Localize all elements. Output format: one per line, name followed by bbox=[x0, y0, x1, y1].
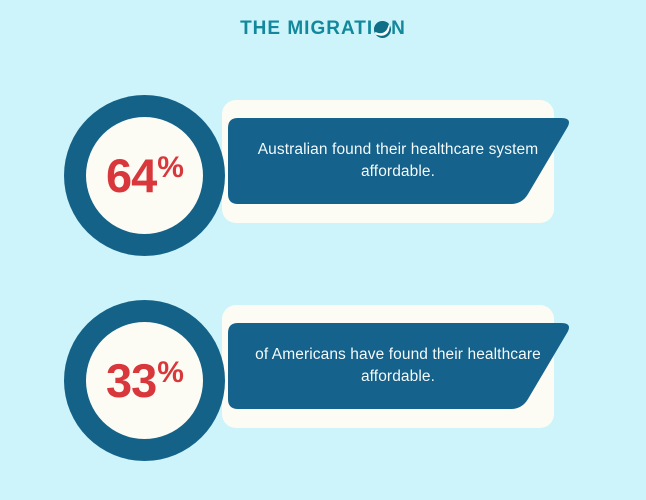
card-banner: Australian found their healthcare system… bbox=[228, 118, 573, 204]
percentage-circle-inner: 33 % bbox=[86, 322, 203, 439]
percentage-symbol: % bbox=[157, 358, 184, 388]
percentage-number: 33 bbox=[106, 357, 156, 404]
card-banner: of Americans have found their healthcare… bbox=[228, 323, 573, 409]
logo-swoosh-shape bbox=[374, 22, 389, 37]
percentage-circle: 33 % bbox=[64, 300, 225, 461]
brand-lockup: THE MIGRATI N bbox=[240, 19, 406, 38]
stat-card: of Americans have found their healthcare… bbox=[0, 295, 646, 455]
percentage-symbol: % bbox=[157, 153, 184, 183]
circle-leaf-logo-icon bbox=[374, 21, 391, 38]
percentage-value: 33 % bbox=[106, 357, 183, 404]
brand-title-after: N bbox=[391, 19, 406, 38]
percentage-number: 64 bbox=[106, 152, 156, 199]
percentage-value: 64 % bbox=[106, 152, 183, 199]
brand-title-before: THE MIGRATI bbox=[240, 19, 373, 38]
percentage-circle: 64 % bbox=[64, 95, 225, 256]
infographic-canvas: THE MIGRATI N Australian found their hea… bbox=[0, 0, 646, 500]
card-statement: of Americans have found their healthcare… bbox=[248, 323, 548, 409]
card-statement: Australian found their healthcare system… bbox=[248, 118, 548, 204]
stat-card: Australian found their healthcare system… bbox=[0, 90, 646, 250]
percentage-circle-inner: 64 % bbox=[86, 117, 203, 234]
brand-header: THE MIGRATI N bbox=[0, 16, 646, 44]
